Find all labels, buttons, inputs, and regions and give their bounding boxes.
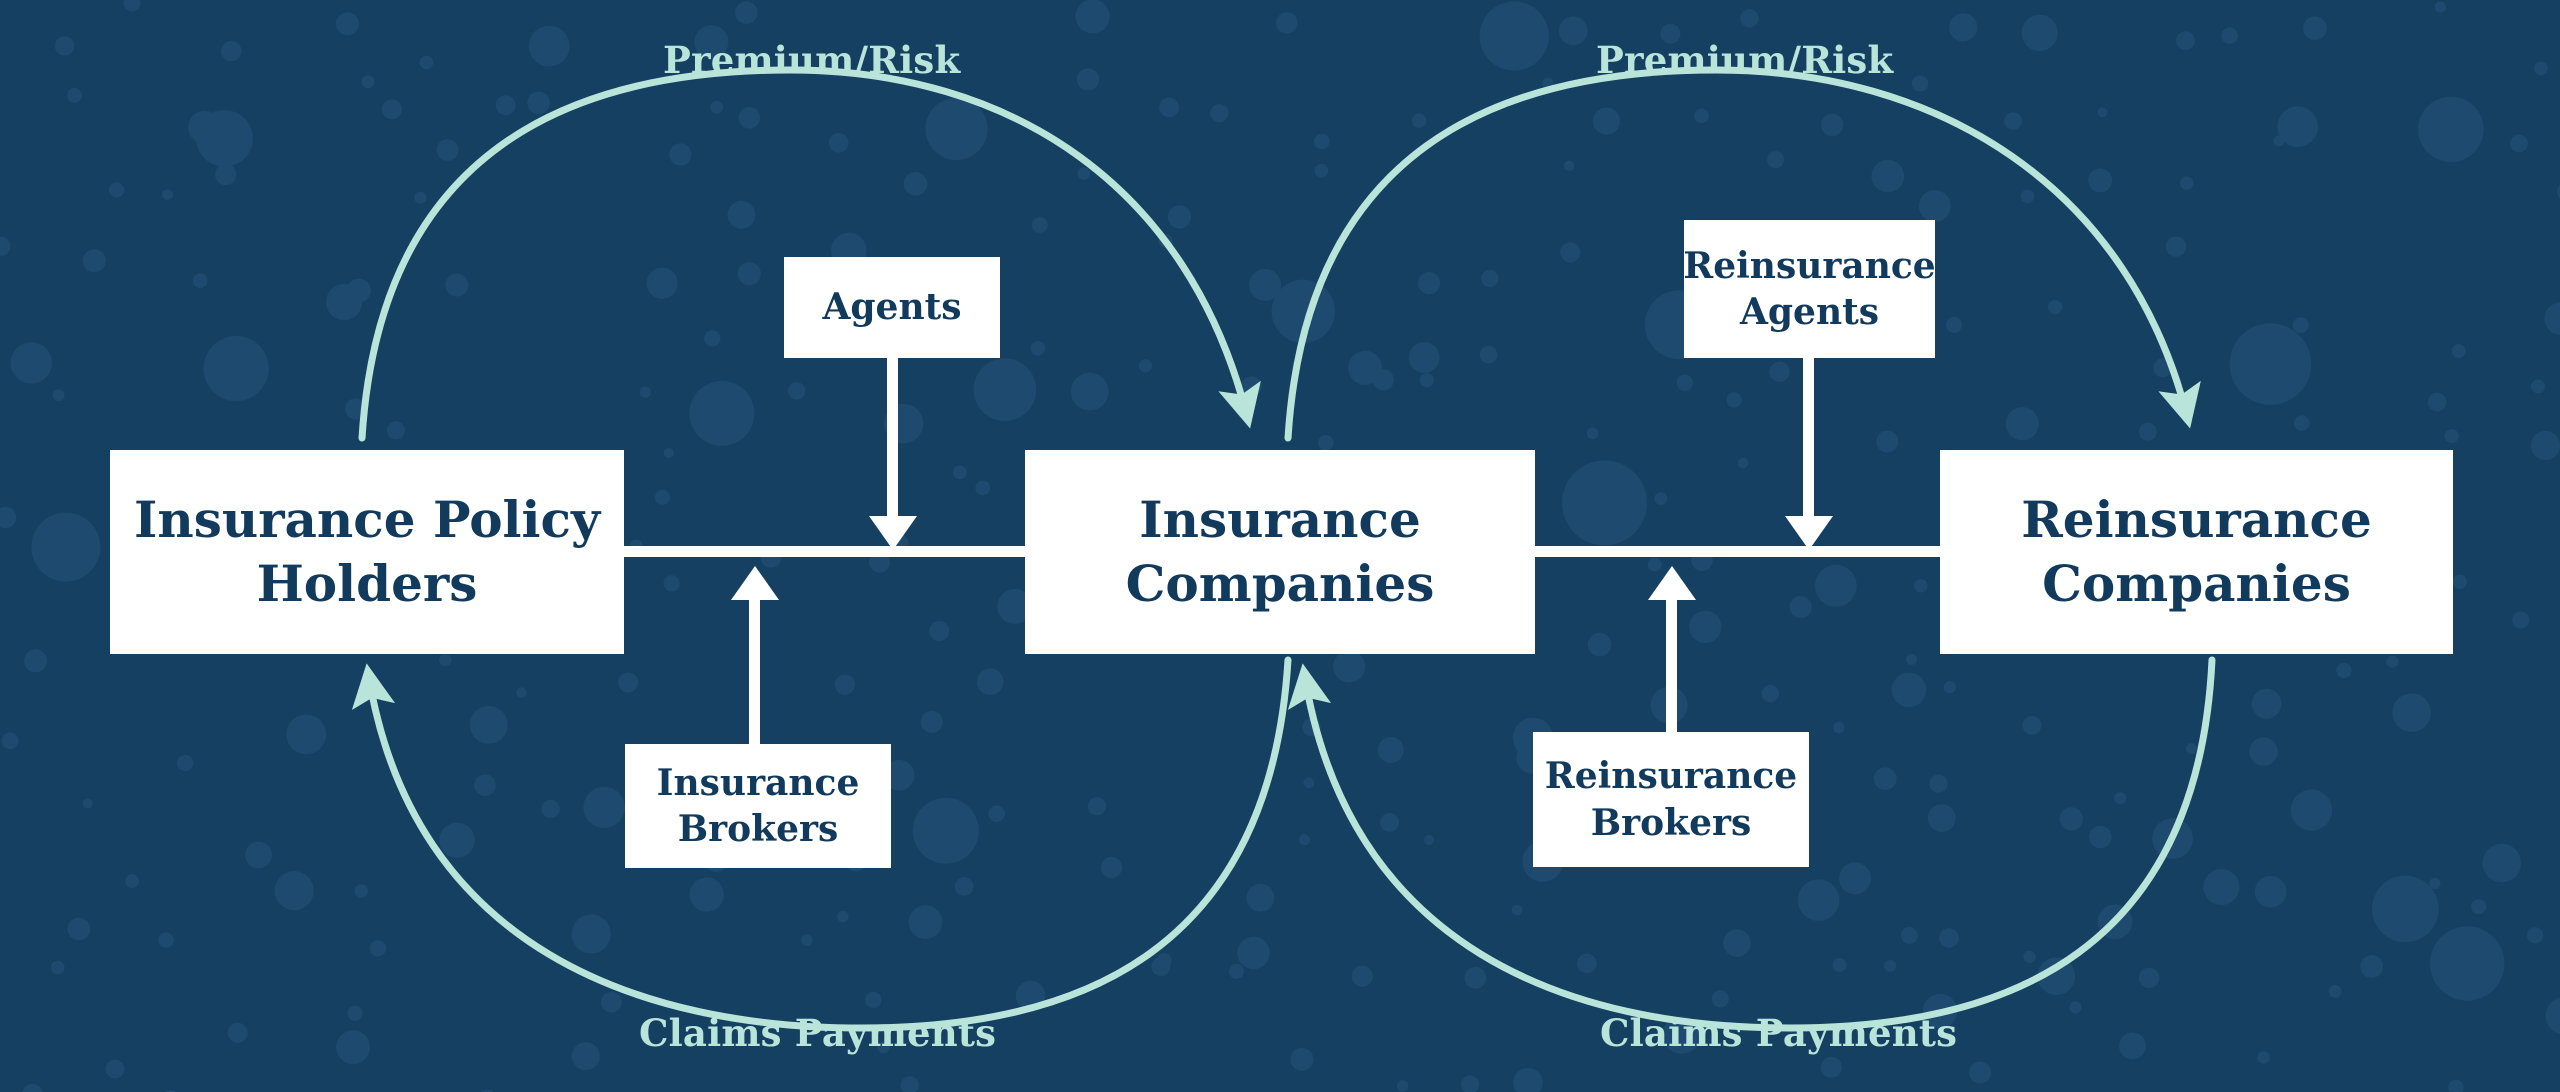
connector-insurers-to-reinsurers [1528,546,1948,557]
arrowhead-insurance-brokers-up [731,566,779,600]
node-label: Agents [822,284,961,330]
connector-holders-to-insurers [613,546,1031,557]
flow-label-premium-risk-right: Premium/Risk [1596,38,1893,82]
node-reinsurance-companies[interactable]: Reinsurance Companies [1940,450,2453,654]
connector-agents-stem [887,358,898,526]
diagram-canvas: Insurance Policy Holders Insurance Compa… [0,0,2560,1092]
node-label: Reinsurance Brokers [1545,753,1797,845]
node-reinsurance-brokers[interactable]: Reinsurance Brokers [1533,732,1809,867]
connector-reinsurance-brokers-stem [1666,600,1677,746]
node-label: Insurance Companies [1126,488,1435,616]
flow-label-premium-risk-left: Premium/Risk [663,38,960,82]
node-label: Insurance Brokers [657,760,860,852]
node-insurance-companies[interactable]: Insurance Companies [1025,450,1535,654]
node-agents[interactable]: Agents [784,257,1000,358]
node-insurance-brokers[interactable]: Insurance Brokers [625,744,891,868]
node-label: Insurance Policy Holders [134,488,600,616]
arrowhead-reinsurance-brokers-up [1648,566,1696,600]
connector-reinsurance-agents-stem [1803,358,1814,526]
flow-arrow-premium-risk-left [362,70,1248,438]
connector-insurance-brokers-stem [749,600,760,746]
node-label: Reinsurance Companies [2021,488,2372,616]
flow-label-claims-payments-right: Claims Payments [1600,1011,1957,1055]
arrowhead-reinsurance-agents-down [1785,516,1833,550]
flow-label-claims-payments-left: Claims Payments [639,1011,996,1055]
node-label: Reinsurance Agents [1683,243,1935,335]
node-insurance-policy-holders[interactable]: Insurance Policy Holders [110,450,624,654]
arrowhead-agents-down [869,516,917,550]
node-reinsurance-agents[interactable]: Reinsurance Agents [1684,220,1935,358]
